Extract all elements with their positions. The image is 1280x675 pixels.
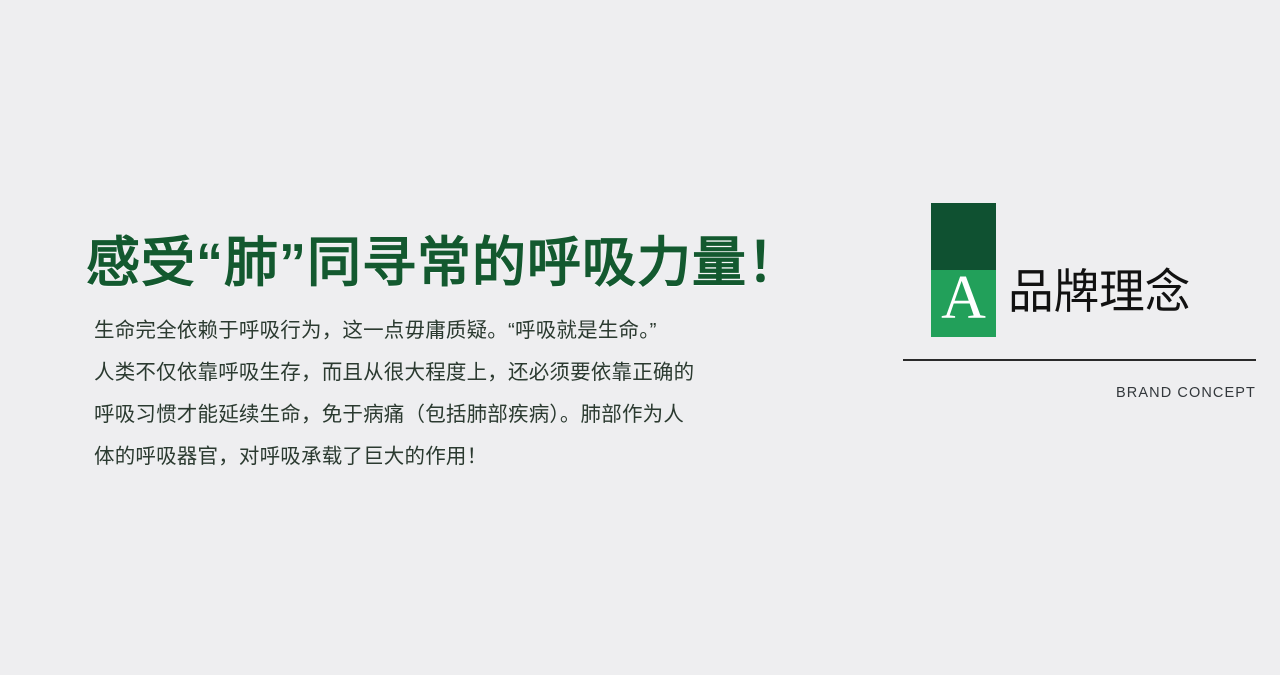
- brand-subtitle: BRAND CONCEPT: [903, 385, 1256, 401]
- page-title: 感受“肺”同寻常的呼吸力量！: [86, 236, 806, 290]
- brand-row: A 品牌理念: [903, 203, 1256, 337]
- article-body-line: 呼吸习惯才能延续生命，免于病痛（包括肺部疾病）。肺部作为人: [94, 394, 806, 436]
- article-body-line: 人类不仅依靠呼吸生存，而且从很大程度上，还必须要依靠正确的: [94, 352, 806, 394]
- article-block: 感受“肺”同寻常的呼吸力量！ 生命完全依赖于呼吸行为，这一点毋庸质疑。“呼吸就是…: [86, 236, 806, 478]
- poster-canvas: 感受“肺”同寻常的呼吸力量！ 生命完全依赖于呼吸行为，这一点毋庸质疑。“呼吸就是…: [0, 0, 1280, 675]
- logo-letter-a: A: [931, 203, 996, 337]
- article-body-line: 生命完全依赖于呼吸行为，这一点毋庸质疑。“呼吸就是生命。”: [94, 310, 806, 352]
- brand-name: 品牌理念: [1008, 268, 1190, 337]
- brand-divider: [903, 359, 1256, 361]
- article-body-line: 体的呼吸器官，对呼吸承载了巨大的作用！: [94, 436, 806, 478]
- brand-logo-mark: A: [931, 203, 996, 337]
- article-body: 生命完全依赖于呼吸行为，这一点毋庸质疑。“呼吸就是生命。” 人类不仅依靠呼吸生存…: [86, 310, 806, 478]
- brand-lockup: A 品牌理念 BRAND CONCEPT: [903, 203, 1256, 401]
